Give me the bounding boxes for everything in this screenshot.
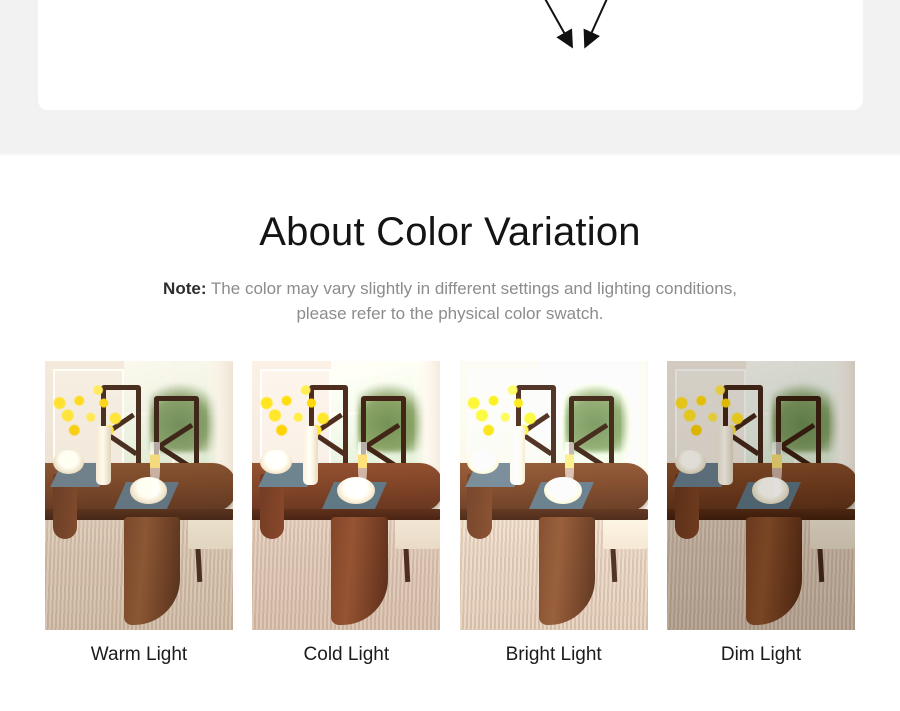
swatch-thumbnail[interactable] xyxy=(460,361,648,630)
swatch-label: Warm Light xyxy=(45,642,233,668)
swatch-bright-light[interactable]: Bright Light xyxy=(460,361,648,668)
swatch-warm-light[interactable]: Warm Light xyxy=(45,361,233,668)
color-variation-note: Note: The color may vary slightly in dif… xyxy=(0,276,900,326)
page-title: About Color Variation xyxy=(0,210,900,254)
swatch-label: Dim Light xyxy=(667,642,855,668)
swatch-thumbnail[interactable] xyxy=(252,361,440,630)
product-detail-page: About Color Variation Note: The color ma… xyxy=(0,0,900,711)
swatch-cold-light[interactable]: Cold Light xyxy=(252,361,440,668)
dimension-diagram-section xyxy=(0,0,900,110)
swatch-label: Cold Light xyxy=(252,642,440,668)
note-line-1: The color may vary slightly in different… xyxy=(211,279,737,298)
dining-table-photo xyxy=(45,361,233,630)
dimension-diagram-card xyxy=(38,0,863,110)
dining-table-photo xyxy=(460,361,648,630)
dining-table-photo xyxy=(667,361,855,630)
dimension-arrows-svg xyxy=(38,0,863,110)
swatch-thumbnail[interactable] xyxy=(45,361,233,630)
note-label: Note: xyxy=(163,279,206,298)
color-variation-section: About Color Variation Note: The color ma… xyxy=(0,156,900,711)
dining-table-photo xyxy=(252,361,440,630)
swatch-label: Bright Light xyxy=(460,642,648,668)
swatch-dim-light[interactable]: Dim Light xyxy=(667,361,855,668)
swatch-thumbnail[interactable] xyxy=(667,361,855,630)
lighting-swatch-row: Warm Light xyxy=(45,361,855,668)
note-line-2: please refer to the physical color swatc… xyxy=(296,304,603,323)
section-separator-band xyxy=(0,110,900,155)
